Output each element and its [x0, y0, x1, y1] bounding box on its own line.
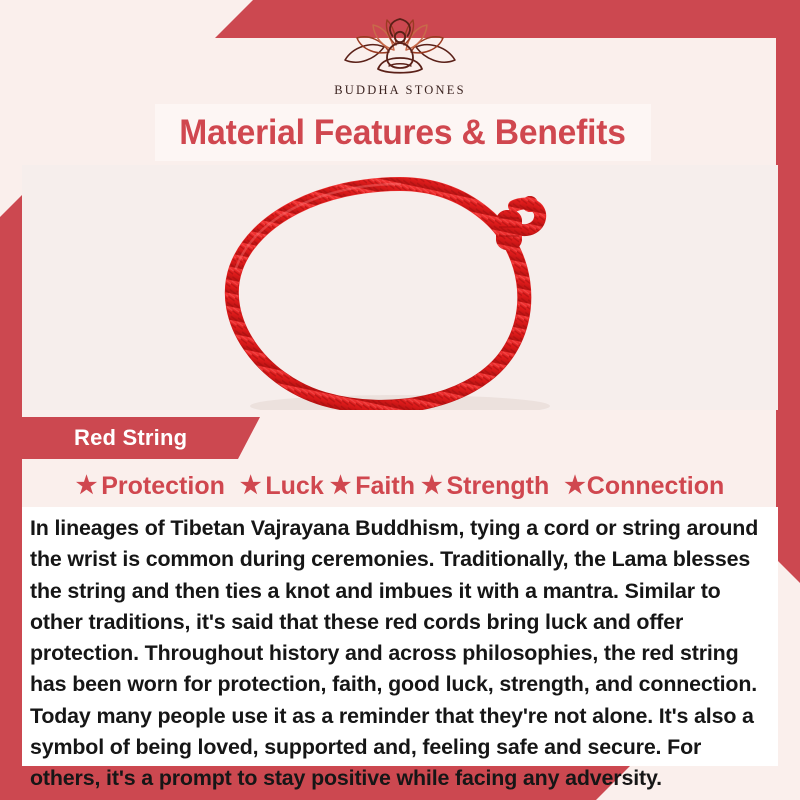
- benefit-item-luck: ★ Luck: [240, 472, 324, 501]
- material-banner: Red String: [18, 417, 260, 459]
- benefit-label: Faith: [355, 472, 415, 501]
- title-band: Material Features & Benefits: [155, 104, 651, 161]
- benefit-label: Connection: [587, 472, 725, 501]
- bracelet-knot: [496, 196, 540, 250]
- benefit-item-faith: ★ Faith: [330, 472, 415, 501]
- benefit-item-strength: ★ Strength: [421, 472, 549, 501]
- brand-logo: BUDDHA STONES: [0, 14, 800, 98]
- benefit-label: Luck: [265, 472, 323, 501]
- star-icon: ★: [421, 474, 443, 498]
- star-icon: ★: [330, 474, 352, 498]
- page-title: Material Features & Benefits: [180, 113, 627, 153]
- decor-band-left: [0, 195, 22, 800]
- star-icon: ★: [240, 474, 262, 498]
- benefit-label: Strength: [446, 472, 549, 501]
- red-string-bracelet-image: [22, 165, 778, 410]
- benefit-item-protection: ★ Protection: [76, 472, 225, 501]
- description-panel: In lineages of Tibetan Vajrayana Buddhis…: [22, 507, 778, 766]
- benefits-row: ★ Protection ★ Luck ★ Faith ★ Strength ★…: [22, 465, 778, 507]
- material-name: Red String: [74, 425, 187, 451]
- brand-name: BUDDHA STONES: [334, 83, 466, 98]
- lotus-meditation-icon: [337, 14, 463, 80]
- benefit-item-connection: ★ Connection: [564, 472, 724, 501]
- poster-canvas: BUDDHA STONES Material Features & Benefi…: [0, 0, 800, 800]
- description-text: In lineages of Tibetan Vajrayana Buddhis…: [30, 513, 764, 795]
- star-icon: ★: [76, 474, 98, 498]
- benefit-label: Protection: [101, 472, 225, 501]
- poster-header: BUDDHA STONES Material Features & Benefi…: [0, 0, 800, 165]
- product-image-panel: [22, 165, 778, 410]
- star-icon: ★: [564, 474, 586, 498]
